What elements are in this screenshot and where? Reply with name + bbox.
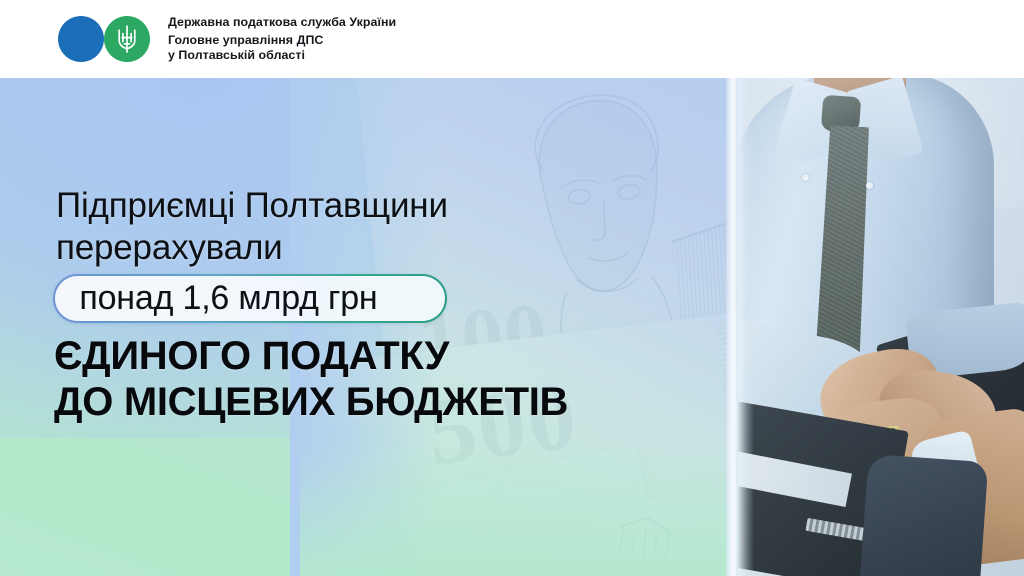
dps-logo[interactable] — [58, 14, 158, 64]
amount-pill-inner: понад 1,6 млрд грн — [55, 276, 444, 320]
brand-line-2: Головне управління ДПС — [168, 34, 396, 46]
site-header: Державна податкова служба України Головн… — [0, 0, 1024, 78]
banner-copy: Підприємці Полтавщини перерахували понад… — [0, 78, 740, 576]
logo-blue-circle-icon — [58, 16, 104, 62]
banner-canvas: 100 500 — [0, 78, 1024, 576]
infographic-banner: Державна податкова служба України Головн… — [0, 0, 1024, 576]
photo-color-tint — [738, 78, 1024, 576]
amount-highlight-text: понад 1,6 млрд грн — [79, 279, 377, 318]
headline-line-1: Підприємці Полтавщини — [56, 186, 448, 226]
amount-highlight-pill: понад 1,6 млрд грн — [53, 274, 447, 323]
emphasis-line-1: ЄДИНОГО ПОДАТКУ — [54, 334, 449, 379]
handshake-photo — [738, 78, 1024, 576]
brand-line-1: Державна податкова служба України — [168, 16, 396, 28]
brand-text: Державна податкова служба України Головн… — [168, 16, 396, 61]
emphasis-line-2: ДО МІСЦЕВИХ БЮДЖЕТІВ — [54, 380, 568, 425]
ukraine-trident-icon — [104, 16, 150, 62]
brand-line-3: у Полтавській області — [168, 49, 396, 61]
headline-line-2: перерахували — [56, 228, 283, 268]
